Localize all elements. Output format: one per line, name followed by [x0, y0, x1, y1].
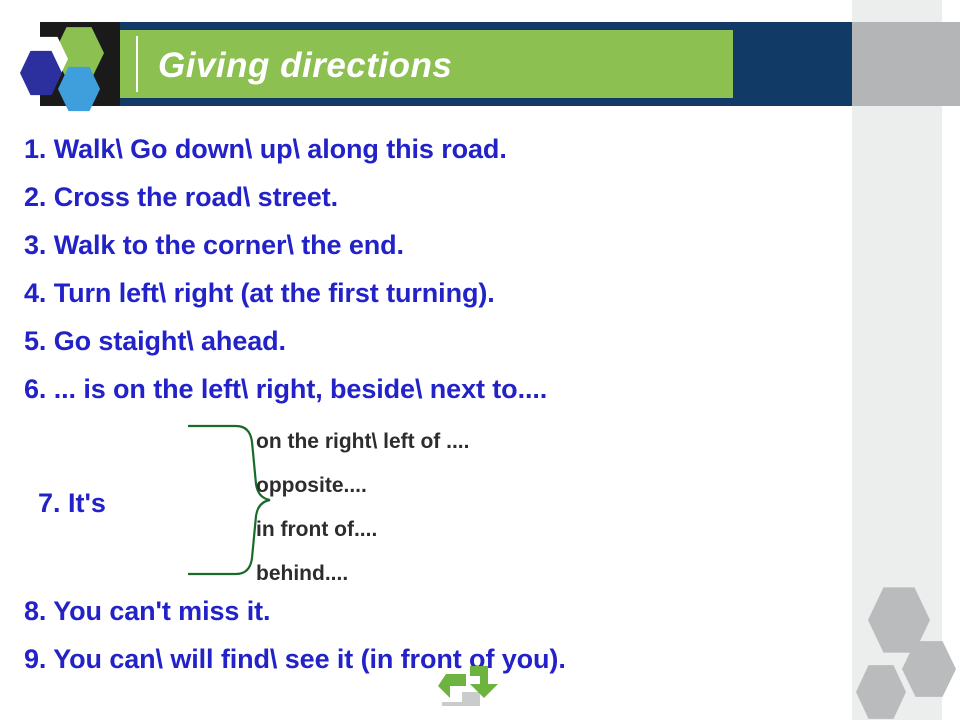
list-item: 1. Walk\ Go down\ up\ along this road. — [24, 125, 904, 173]
header-gray-block — [852, 22, 960, 106]
page-title: Giving directions — [158, 44, 758, 88]
directions-list: 1. Walk\ Go down\ up\ along this road. 2… — [24, 125, 904, 413]
slide: Giving directions 1. Walk\ Go down\ up\ … — [0, 0, 960, 720]
list-item: 5. Go staight\ ahead. — [24, 317, 904, 365]
recycle-arrows-icon — [436, 656, 500, 716]
list-item: opposite.... — [256, 464, 469, 508]
list-item: 2. Cross the road\ street. — [24, 173, 904, 221]
item-7-options: on the right\ left of .... opposite.... … — [256, 420, 469, 596]
list-item: 4. Turn left\ right (at the first turnin… — [24, 269, 904, 317]
list-item: on the right\ left of .... — [256, 420, 469, 464]
list-item: 6. ... is on the left\ right, beside\ ne… — [24, 365, 904, 413]
item-7-group: 7. It's on the right\ left of .... oppos… — [24, 420, 904, 592]
logo — [14, 22, 120, 106]
list-item: in front of.... — [256, 508, 469, 552]
list-item: 3. Walk to the corner\ the end. — [24, 221, 904, 269]
list-item: 8. You can't miss it. — [24, 587, 904, 635]
item-7-label: 7. It's — [38, 488, 106, 519]
right-edge-band — [942, 0, 960, 720]
